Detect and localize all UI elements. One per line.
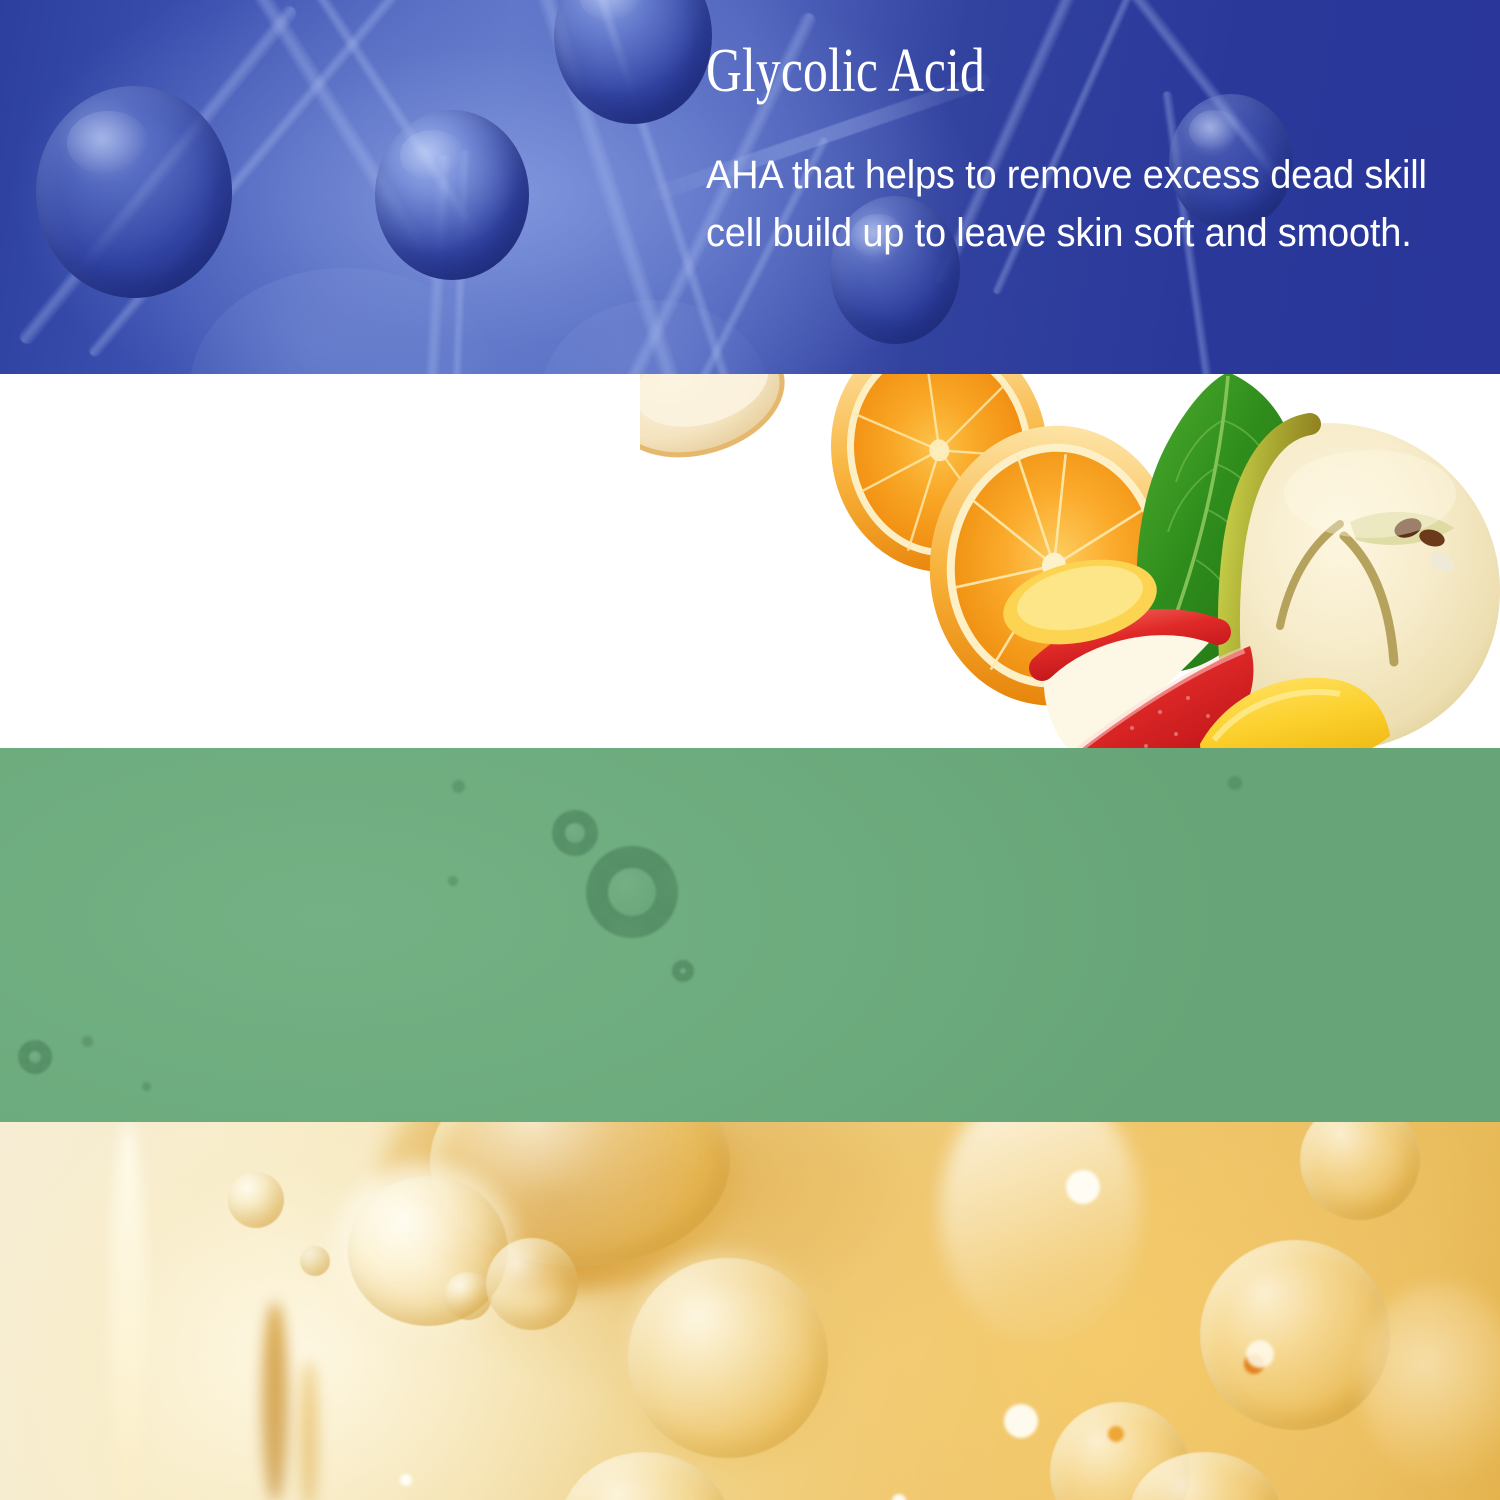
glycolic-acid-text-block: Glycolic Acid AHA that helps to remove e… bbox=[706, 40, 1486, 262]
glycolic-acid-description: AHA that helps to remove excess dead ski… bbox=[706, 146, 1447, 262]
spacer bbox=[706, 102, 1486, 146]
green-bubble-background bbox=[0, 748, 1500, 1122]
panel-fruit-acid-complex: Fruit Acid Complex Concentrated blend of… bbox=[0, 374, 1500, 748]
golden-oil-background bbox=[0, 1122, 1500, 1500]
glycolic-acid-heading: Glycolic Acid bbox=[706, 40, 1330, 102]
panel-polyhydroxy-acid: Polyhydroxy Acid A next-generation AHA t… bbox=[0, 748, 1500, 1122]
ingredient-benefits-infographic: Glycolic Acid AHA that helps to remove e… bbox=[0, 0, 1500, 1500]
fruit-photo-artwork bbox=[640, 374, 1500, 748]
panel-glycolic-acid: Glycolic Acid AHA that helps to remove e… bbox=[0, 0, 1500, 374]
panel-squalane: Squalane Plant sugar-derived moisturizer… bbox=[0, 1122, 1500, 1500]
